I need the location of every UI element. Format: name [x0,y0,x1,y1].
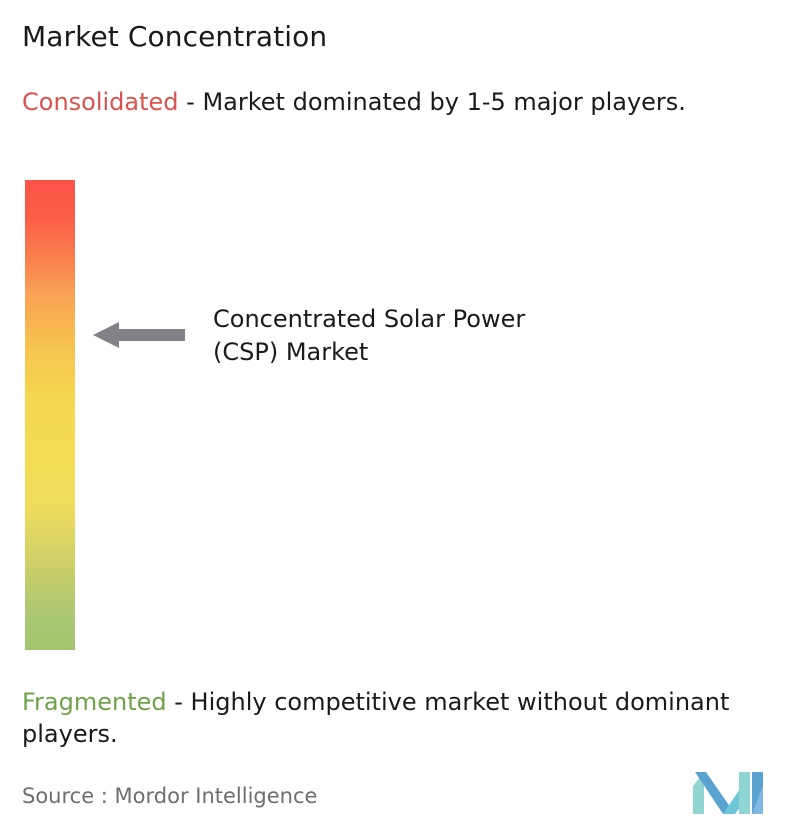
legend-consolidated-keyword: Consolidated [22,88,179,116]
market-marker-label-line2: (CSP) Market [213,336,663,369]
legend-fragmented-keyword: Fragmented [22,688,167,716]
market-marker-label: Concentrated Solar Power (CSP) Market [213,303,663,369]
legend-consolidated: Consolidated - Market dominated by 1-5 m… [22,86,782,118]
legend-fragmented: Fragmented - Highly competitive market w… [22,686,782,750]
source-attribution: Source : Mordor Intelligence [22,782,317,810]
left-arrow-icon [93,320,185,350]
page-title: Market Concentration [22,20,327,54]
mordor-intelligence-logo-icon [693,772,771,814]
concentration-gradient-scale [25,180,75,650]
legend-consolidated-description: - Market dominated by 1-5 major players. [179,88,686,116]
market-marker-label-line1: Concentrated Solar Power [213,303,663,336]
